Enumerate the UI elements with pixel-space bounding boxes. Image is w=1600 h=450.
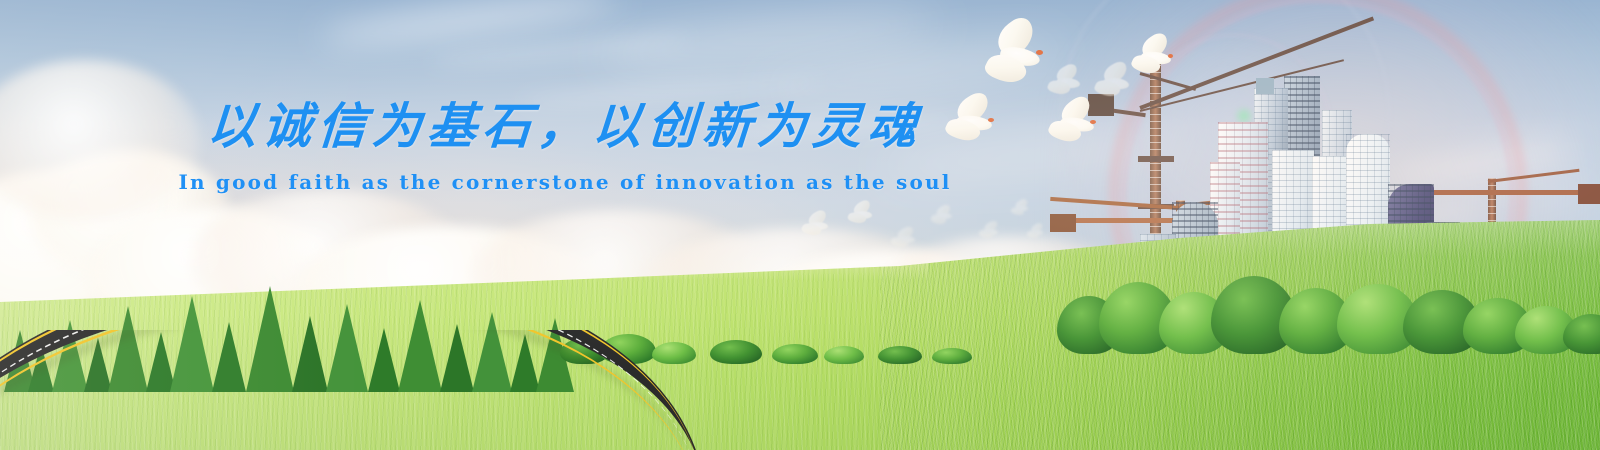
- dove-icon: [846, 202, 878, 226]
- building-rooftop: [1256, 78, 1274, 94]
- bush-icon: [772, 344, 818, 364]
- bush-icon: [710, 340, 762, 364]
- dove-icon: [1092, 64, 1138, 100]
- hero-banner: 以诚信为基石，以创新为灵魂 In good faith as the corne…: [0, 0, 1600, 450]
- dove-icon: [930, 206, 956, 226]
- bush-icon: [824, 346, 864, 364]
- dove-icon: [890, 228, 920, 250]
- road-icon: [0, 330, 700, 450]
- dove-icon: [978, 26, 1050, 88]
- dove-icon: [978, 222, 1002, 240]
- page-subtitle: In good faith as the cornerstone of inno…: [0, 170, 1130, 194]
- dove-icon: [1046, 66, 1086, 98]
- banner-text-block: 以诚信为基石，以创新为灵魂 In good faith as the corne…: [0, 96, 1130, 194]
- dove-icon: [800, 212, 834, 238]
- bush-icon: [878, 346, 922, 364]
- dove-icon: [1026, 224, 1046, 240]
- bush-icon: [932, 348, 972, 364]
- page-title: 以诚信为基石，以创新为灵魂: [0, 96, 1132, 156]
- dove-icon: [1010, 200, 1032, 216]
